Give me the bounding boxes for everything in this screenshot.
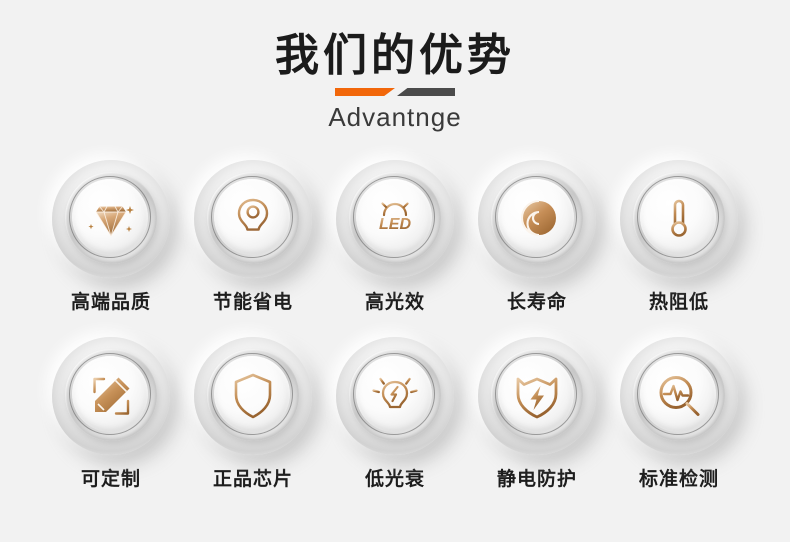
badge-circle xyxy=(48,156,174,282)
badge-circle: LED xyxy=(332,156,458,282)
divider-segment-gray xyxy=(397,88,455,96)
badge-circle xyxy=(190,156,316,282)
advantage-label: 节能省电 xyxy=(213,291,293,315)
divider-segment-orange xyxy=(335,88,395,96)
advantage-label: 热阻低 xyxy=(649,291,709,315)
advantage-row: 高端品质 xyxy=(45,156,745,315)
advantage-item-standard-testing[interactable]: 标准检测 xyxy=(613,333,745,492)
title-divider xyxy=(335,88,455,96)
advantage-label: 正品芯片 xyxy=(213,468,293,492)
advantage-label: 高端品质 xyxy=(71,291,151,315)
led-sun-icon: LED xyxy=(369,193,421,245)
thermometer-icon xyxy=(653,193,705,245)
badge-circle xyxy=(332,333,458,459)
shield-bolt-icon xyxy=(511,370,563,422)
badge-circle xyxy=(48,333,174,459)
advantage-item-high-quality[interactable]: 高端品质 xyxy=(45,156,177,315)
advantage-item-energy-saving[interactable]: 节能省电 xyxy=(187,156,319,315)
advantage-label: 长寿命 xyxy=(507,291,567,315)
advantage-grid: 高端品质 xyxy=(45,156,745,492)
advantage-item-long-lifespan[interactable]: 长寿命 xyxy=(471,156,603,315)
page-subtitle: Advantnge xyxy=(0,100,790,134)
badge-circle xyxy=(616,333,742,459)
advantage-item-low-thermal-resistance[interactable]: 热阻低 xyxy=(613,156,745,315)
magnifier-pulse-icon xyxy=(653,370,705,422)
advantage-label: 可定制 xyxy=(81,468,141,492)
advantage-item-low-light-decay[interactable]: 低光衰 xyxy=(329,333,461,492)
advantage-item-customizable[interactable]: 可定制 xyxy=(45,333,177,492)
badge-circle xyxy=(474,333,600,459)
lightbulb-icon xyxy=(227,193,279,245)
advantage-item-esd-protection[interactable]: 静电防护 xyxy=(471,333,603,492)
advantage-label: 低光衰 xyxy=(365,468,425,492)
page-header: 我们的优势 Advantnge xyxy=(0,0,790,134)
advantage-item-luminous-efficacy[interactable]: LED 高光效 xyxy=(329,156,461,315)
page-title: 我们的优势 xyxy=(0,30,790,82)
shield-zheng-icon xyxy=(227,370,279,422)
badge-circle xyxy=(616,156,742,282)
advantage-item-genuine-chip[interactable]: 正品芯片 xyxy=(187,333,319,492)
bulb-bolt-icon xyxy=(369,370,421,422)
advantage-label: 高光效 xyxy=(365,291,425,315)
advantage-row: 可定制 xyxy=(45,333,745,492)
diamond-icon xyxy=(85,193,137,245)
advantage-label: 标准检测 xyxy=(639,468,719,492)
spiral-icon xyxy=(511,193,563,245)
badge-circle xyxy=(190,333,316,459)
advantage-label: 静电防护 xyxy=(497,468,577,492)
pencil-ruler-icon xyxy=(85,370,137,422)
svg-text:LED: LED xyxy=(379,216,411,233)
badge-circle xyxy=(474,156,600,282)
